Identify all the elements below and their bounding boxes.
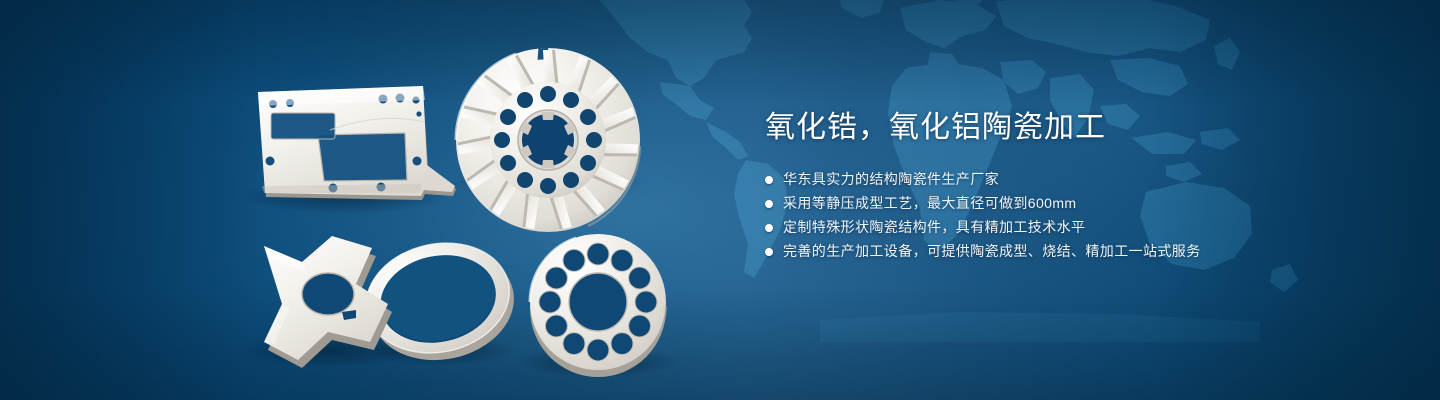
bullet-dot-icon xyxy=(765,176,773,184)
list-item-label: 华东具实力的结构陶瓷件生产厂家 xyxy=(783,168,999,191)
bullet-dot-icon xyxy=(765,248,773,256)
ceramic-impeller-part xyxy=(456,47,640,232)
headline: 氧化锆，氧化铝陶瓷加工 xyxy=(765,108,1385,148)
copy-block: 氧化锆，氧化铝陶瓷加工 华东具实力的结构陶瓷件生产厂家 采用等静压成型工艺，最大… xyxy=(765,108,1385,264)
product-photo-group xyxy=(0,0,760,400)
list-item-label: 完善的生产加工设备，可提供陶瓷成型、烧结、精加工一站式服务 xyxy=(783,240,1201,263)
ceramic-plate-part xyxy=(258,86,456,200)
bullet-dot-icon xyxy=(765,224,773,232)
list-item-label: 定制特殊形状陶瓷结构件，具有精加工技术水平 xyxy=(783,216,1085,239)
list-item: 采用等静压成型工艺，最大直径可做到600mm xyxy=(765,192,1385,215)
list-item-label: 采用等静压成型工艺，最大直径可做到600mm xyxy=(783,192,1076,215)
list-item: 定制特殊形状陶瓷结构件，具有精加工技术水平 xyxy=(765,216,1385,239)
hero-banner: 氧化锆，氧化铝陶瓷加工 华东具实力的结构陶瓷件生产厂家 采用等静压成型工艺，最大… xyxy=(0,0,1440,400)
ceramic-flange-part xyxy=(530,234,666,377)
list-item: 华东具实力的结构陶瓷件生产厂家 xyxy=(765,168,1385,191)
bullet-dot-icon xyxy=(765,200,773,208)
feature-list: 华东具实力的结构陶瓷件生产厂家 采用等静压成型工艺，最大直径可做到600mm 定… xyxy=(765,168,1385,263)
list-item: 完善的生产加工设备，可提供陶瓷成型、烧结、精加工一站式服务 xyxy=(765,240,1385,263)
